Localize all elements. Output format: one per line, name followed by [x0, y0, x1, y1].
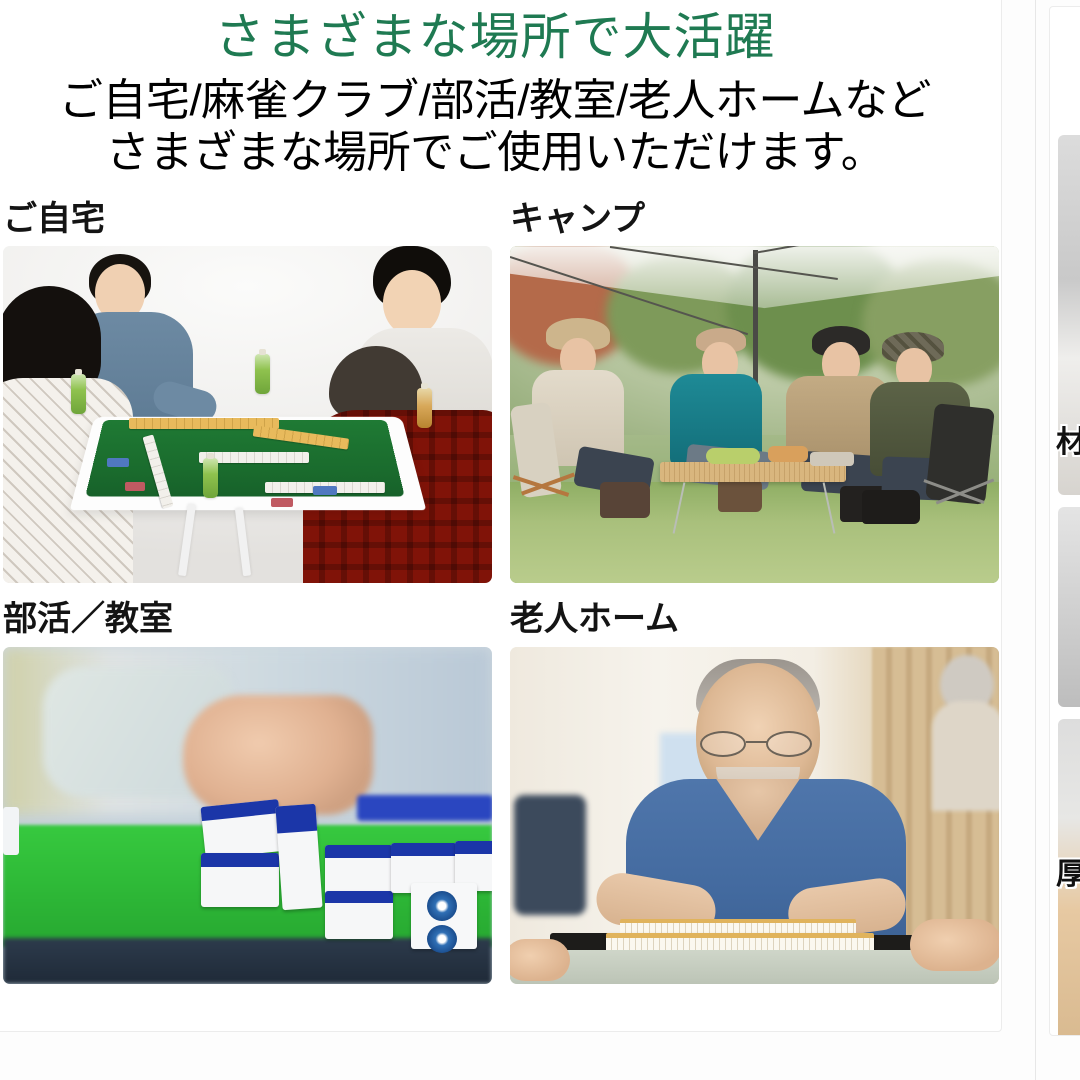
product-detail-card: さまざまな場所で大活躍 ご自宅/麻雀クラブ/部活/教室/老人ホームなど さまざま… [0, 0, 1002, 1032]
mahjong-tile-dots [411, 883, 477, 949]
side-photo-middle [1058, 507, 1080, 707]
boot [600, 482, 650, 518]
dot [427, 891, 457, 921]
boot [862, 490, 920, 524]
mahjong-tile [325, 845, 393, 897]
side-caption-thickness: 厚 [1056, 859, 1080, 891]
photo-camping [510, 246, 999, 583]
screenshot-root: さまざまな場所で大活躍 ご自宅/麻雀クラブ/部活/教室/老人ホームなど さまざま… [0, 0, 1080, 1080]
use-case-cell-nursing: 老人ホーム [510, 601, 999, 983]
green-tea-bottle [255, 354, 270, 394]
green-tea-bottle [203, 458, 218, 498]
other-player-hand-right [910, 919, 999, 971]
food-plate [768, 446, 808, 462]
mahjong-tile [325, 891, 393, 939]
score-chip [271, 498, 293, 507]
subtitle-line-1: ご自宅/麻雀クラブ/部活/教室/老人ホームなど [3, 75, 987, 127]
use-case-label-club: 部活／教室 [3, 601, 492, 638]
food-plate [706, 448, 760, 464]
use-case-cell-home: ご自宅 [3, 201, 492, 583]
next-product-card[interactable]: 材 厚 [1049, 6, 1080, 1036]
dot [427, 925, 457, 953]
glasses-icon [700, 731, 816, 757]
green-tea-bottle [71, 374, 86, 414]
tea-bottle [417, 388, 432, 428]
card-content: さまざまな場所で大活躍 ご自宅/麻雀クラブ/部活/教室/老人ホームなど さまざま… [0, 0, 1002, 1004]
chair-seat [925, 403, 995, 505]
lens-right [766, 731, 812, 757]
score-chip [125, 482, 145, 491]
use-case-cell-club: 部活／教室 [3, 601, 492, 983]
photo-club-classroom [3, 647, 492, 984]
food-tray [810, 452, 854, 466]
lens-left [700, 731, 746, 757]
bridge [746, 741, 768, 743]
mahjong-tile [275, 803, 322, 910]
subtitle-line-2: さまざまな場所でご使用いただけます。 [3, 127, 987, 179]
photo-nursing-home [510, 647, 999, 984]
photo-home-mahjong [3, 246, 492, 583]
score-chip [107, 458, 129, 467]
score-chip [313, 486, 337, 495]
boot [718, 478, 762, 512]
use-case-label-camping: キャンプ [510, 201, 999, 238]
panel-divider [1035, 0, 1036, 1080]
other-player-hand-left [510, 939, 570, 981]
use-case-grid: ご自宅 [3, 201, 987, 984]
side-caption-material: 材 [1056, 427, 1080, 459]
hand [183, 695, 373, 815]
page-title: さまざまな場所で大活躍 [3, 9, 987, 65]
page-subtitle: ご自宅/麻雀クラブ/部活/教室/老人ホームなど さまざまな場所でご使用いただけま… [3, 75, 987, 179]
head [383, 270, 441, 336]
mahjong-tile [200, 799, 283, 859]
blue-tile-row [357, 795, 492, 821]
background-chair [514, 795, 586, 915]
use-case-cell-camping: キャンプ [510, 201, 999, 583]
mahjong-tile [3, 807, 19, 855]
use-case-label-home: ご自宅 [3, 201, 492, 238]
background-person-body [932, 701, 999, 811]
use-case-label-nursing: 老人ホーム [510, 601, 999, 638]
mahjong-tile [201, 853, 279, 907]
